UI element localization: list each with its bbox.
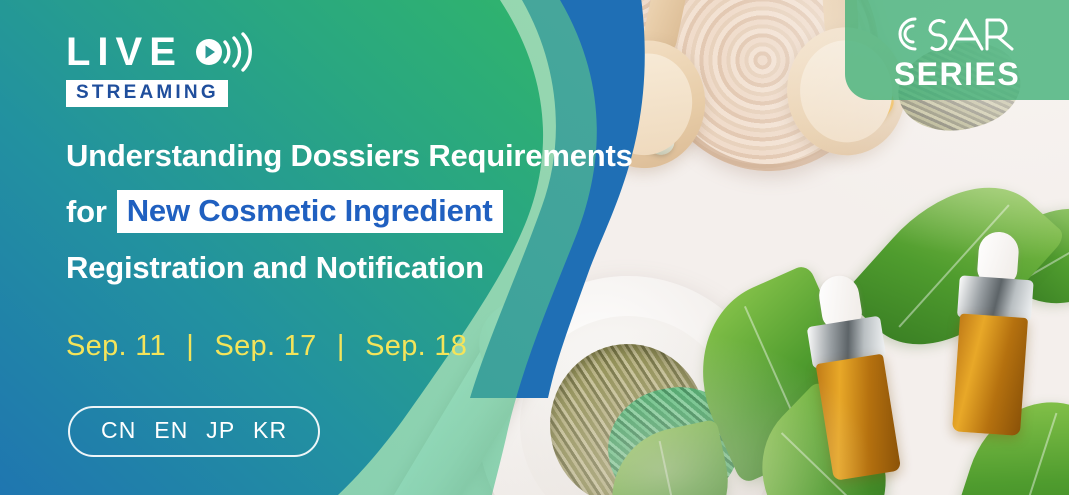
headline-line-2-prefix: for (66, 196, 107, 227)
headline-highlight: New Cosmetic Ingredient (117, 190, 503, 233)
date-item-3: Sep. 18 (365, 330, 467, 362)
csar-series-label: SERIES (894, 58, 1020, 90)
live-broadcast-icon (194, 32, 256, 72)
headline-line-2: for New Cosmetic Ingredient (66, 190, 611, 233)
language-code-jp[interactable]: JP (201, 417, 240, 443)
date-item-2: Sep. 17 (214, 330, 316, 362)
headline-line-1: Understanding Dossiers Requirements (66, 140, 611, 171)
headline-block: Understanding Dossiers Requirements for … (66, 140, 611, 283)
language-code-en[interactable]: EN (149, 417, 193, 443)
language-options-pill[interactable]: CN EN JP KR (68, 406, 320, 457)
live-streaming-banner: LIVE STREAMING Understanding Dossiers Re… (0, 0, 1069, 495)
live-label: LIVE (66, 32, 183, 72)
csar-logo-icon (882, 11, 1032, 57)
date-item-1: Sep. 11 (66, 330, 166, 362)
banner-content: LIVE STREAMING Understanding Dossiers Re… (0, 0, 620, 495)
language-code-cn[interactable]: CN (96, 417, 142, 443)
language-code-kr[interactable]: KR (248, 417, 292, 443)
date-separator: | (325, 330, 357, 362)
headline-line-3: Registration and Notification (66, 252, 611, 283)
date-separator: | (174, 330, 206, 362)
live-row: LIVE (66, 32, 256, 72)
csar-series-badge: SERIES (845, 0, 1069, 100)
event-dates: Sep. 11 | Sep. 17 | Sep. 18 (66, 330, 467, 363)
live-streaming-logo: LIVE STREAMING (66, 32, 256, 107)
streaming-label: STREAMING (66, 80, 228, 107)
